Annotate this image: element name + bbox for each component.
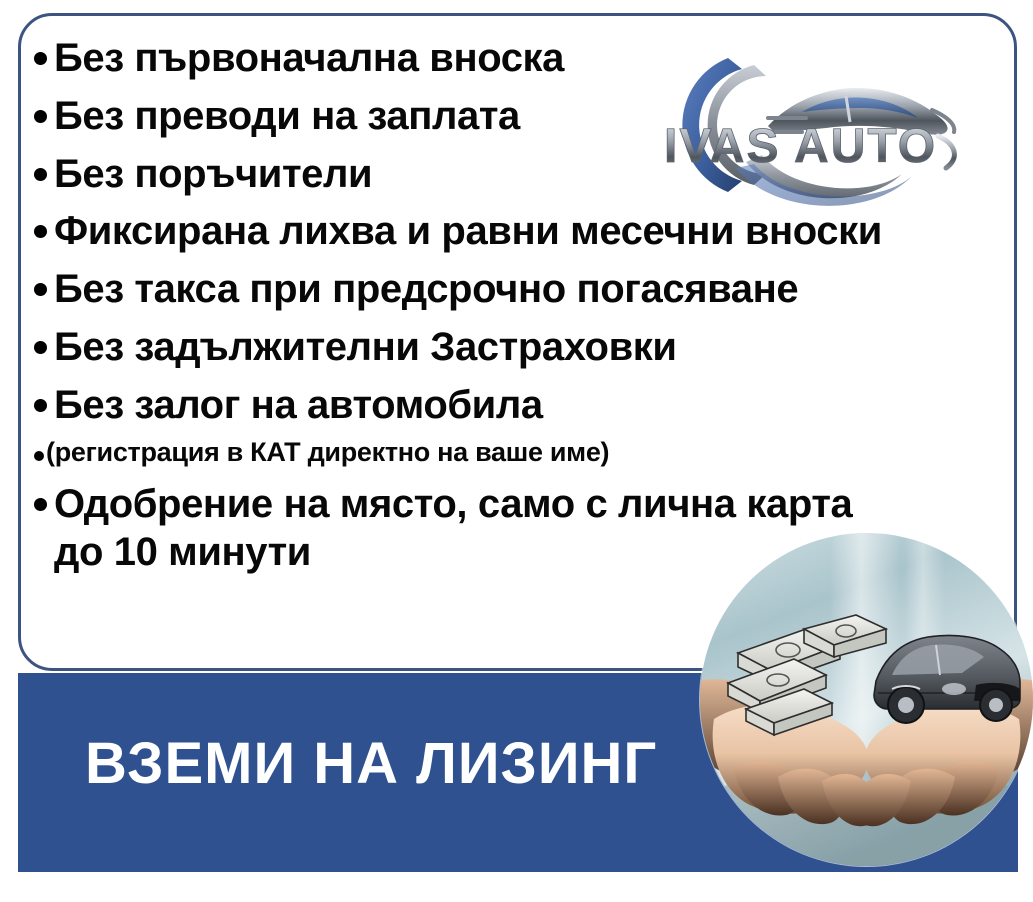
benefit-label: Без преводи на заплата bbox=[54, 92, 520, 141]
hands-money-car-photo bbox=[700, 533, 1033, 866]
bullet-dot-icon bbox=[34, 225, 47, 238]
svg-text:IVAS AUTO: IVAS AUTO bbox=[664, 120, 937, 173]
list-item: Без задължителни Застраховки bbox=[34, 323, 994, 372]
bullet-dot-icon bbox=[34, 498, 47, 511]
bullet-dot-icon bbox=[34, 451, 44, 461]
bullet-dot-icon bbox=[34, 110, 47, 123]
bullet-dot-icon bbox=[34, 283, 47, 296]
benefit-label: Фиксирана лихва и равни месечни вноски bbox=[54, 207, 882, 256]
list-item-note: (регистрация в КАТ директно на ваше име) bbox=[34, 437, 994, 468]
logo-tail-swoosh-icon bbox=[938, 136, 954, 168]
bullet-dot-icon bbox=[34, 399, 47, 412]
list-item: Без такса при предсрочно погасяване bbox=[34, 265, 994, 314]
brand-logo: IVAS AUTO bbox=[650, 40, 970, 210]
list-item: Без залог на автомобила bbox=[34, 381, 994, 430]
logo-wordmark: IVAS AUTO bbox=[664, 120, 937, 173]
cta-label: ВЗЕМИ НА ЛИЗИНГ bbox=[85, 735, 705, 793]
list-item: Фиксирана лихва и равни месечни вноски bbox=[34, 207, 994, 256]
benefit-label: Без такса при предсрочно погасяване bbox=[54, 265, 798, 314]
benefit-label: Без задължителни Застраховки bbox=[54, 323, 677, 372]
benefit-label: Одобрение на място, само с лична карта д… bbox=[54, 480, 852, 578]
benefit-note-label: (регистрация в КАТ директно на ваше име) bbox=[46, 437, 609, 468]
advertisement-poster: Без първоначална вноска Без преводи на з… bbox=[0, 0, 1033, 902]
benefit-label: Без първоначална вноска bbox=[54, 34, 564, 83]
bullet-dot-icon bbox=[34, 52, 47, 65]
benefit-label: Без поръчители bbox=[54, 150, 372, 199]
benefit-label: Без залог на автомобила bbox=[54, 381, 543, 430]
bullet-dot-icon bbox=[34, 168, 47, 181]
bullet-dot-icon bbox=[34, 341, 47, 354]
